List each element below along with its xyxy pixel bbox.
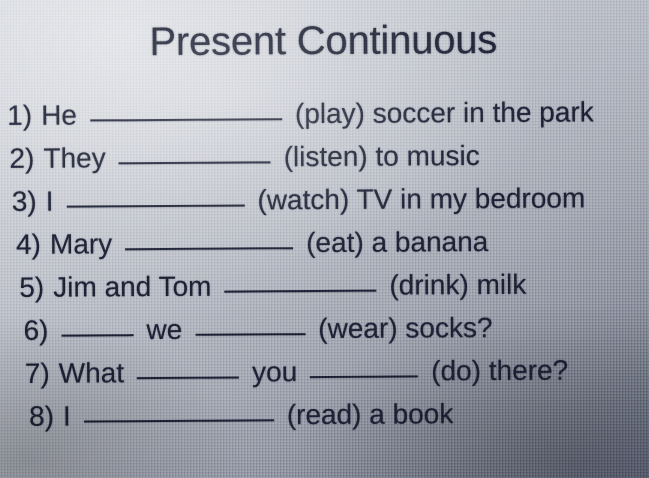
answer-blank[interactable] [61,334,133,336]
answer-blank[interactable] [119,161,271,164]
question-line: 7)Whatyou(do) there? [1,348,649,395]
question-text: (play) soccer in the park [295,90,594,135]
question-text: (do) there? [431,349,568,393]
question-text: (listen) to music [284,134,480,178]
question-text: I [63,395,71,438]
question-line: 4)Mary(eat) a banana [0,219,649,266]
question-line: 5)Jim and Tom(drink) milk [0,262,649,309]
answer-blank[interactable] [66,204,244,207]
question-text: They [43,136,106,179]
question-number: 1) [7,94,32,137]
photographed-screen: Present Continuous 1)He(play) soccer in … [0,0,649,478]
answer-blank[interactable] [137,377,239,380]
question-line: 1)He(play) soccer in the park [0,90,648,137]
question-number: 5) [19,266,44,309]
question-text: (eat) a banana [306,220,488,264]
question-list: 1)He(play) soccer in the park2)They(list… [0,90,649,438]
page-title: Present Continuous [0,16,648,66]
question-number: 6) [23,309,48,352]
question-text: (wear) socks? [318,306,493,350]
question-number: 7) [25,352,50,395]
question-line: 3)I(watch) TV in my bedroom [0,176,649,223]
question-text: (drink) milk [389,263,526,307]
question-line: 6)we(wear) socks? [0,305,649,352]
question-text: (watch) TV in my bedroom [257,176,585,221]
answer-blank[interactable] [84,419,274,422]
question-number: 2) [9,137,34,180]
question-text: He [41,94,77,137]
answer-blank[interactable] [195,333,305,336]
question-text: (read) a book [287,392,454,436]
answer-blank[interactable] [90,118,282,121]
question-line: 8)I(read) a book [1,391,649,438]
question-text: I [46,180,54,223]
worksheet-content: Present Continuous 1)He(play) soccer in … [0,0,649,478]
question-text: Jim and Tom [53,265,211,309]
question-line: 2)They(listen) to music [0,133,649,180]
answer-blank[interactable] [224,290,376,293]
question-text: Mary [50,222,112,265]
answer-blank[interactable] [310,375,418,378]
question-number: 4) [16,223,41,266]
question-text: you [252,350,297,393]
question-number: 8) [29,395,54,438]
question-text: What [59,351,125,394]
question-number: 3) [12,180,37,223]
question-text: we [146,308,182,351]
answer-blank[interactable] [125,247,293,250]
